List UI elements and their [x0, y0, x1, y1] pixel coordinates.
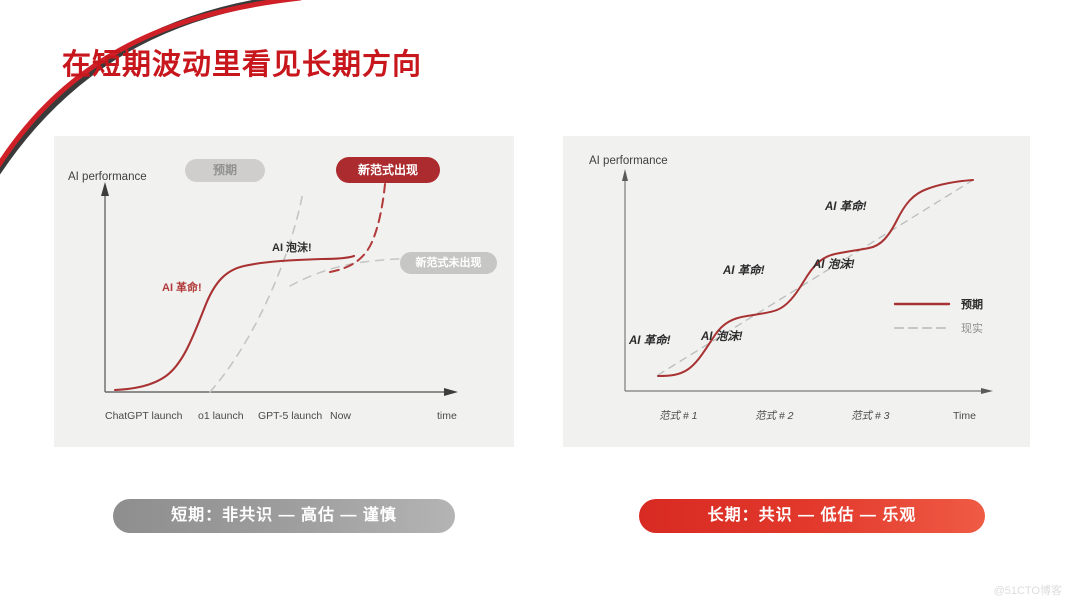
right-annotation-3: AI 泡沫! [812, 258, 855, 271]
right-chart-svg: AI performance Time 范式 # 1 范式 # 2 范式 # 3… [563, 136, 1030, 447]
right-annotation-1: AI 泡沫! [700, 330, 743, 343]
right-annotation-2: AI 革命! [722, 263, 765, 277]
right-y-axis-title: AI performance [589, 155, 668, 167]
left-y-axis-arrowhead [101, 182, 109, 196]
slide-root: 在短期波动里看见长期方向 AI performance time ChatGPT… [0, 0, 1080, 608]
right-chart-panel: AI performance Time 范式 # 1 范式 # 2 范式 # 3… [563, 136, 1030, 447]
left-x-axis-title: time [437, 410, 457, 422]
right-reality-trend-line [658, 180, 973, 375]
left-x-tick-2: GPT-5 launch [258, 410, 322, 422]
right-x-axis-title: Time [953, 410, 976, 422]
badge-expectation[interactable]: 预期 [185, 159, 265, 182]
right-chart-legend: 预期 现实 [895, 297, 983, 335]
left-annotation-bubble: AI 泡沫! [272, 240, 312, 254]
right-x-tick-2: 范式 # 3 [851, 410, 890, 422]
left-chart-svg: AI performance time ChatGPT launch o1 la… [54, 136, 514, 447]
left-y-axis-title: AI performance [68, 171, 147, 183]
left-x-tick-3: Now [330, 410, 351, 422]
right-annotation-0: AI 革命! [628, 333, 671, 347]
badge-new-paradigm-appears[interactable]: 新范式出现 [336, 157, 440, 183]
left-expect-dashed-curve [210, 192, 303, 392]
right-x-tick-0: 范式 # 1 [659, 410, 698, 422]
badge-no-new-paradigm[interactable]: 新范式未出现 [400, 252, 497, 274]
short-term-summary-pill[interactable]: 短期：非共识 — 高估 — 谨慎 [113, 499, 455, 533]
right-annotation-4: AI 革命! [824, 199, 867, 213]
legend-label-reality: 现实 [961, 321, 983, 335]
left-chart-panel: AI performance time ChatGPT launch o1 la… [54, 136, 514, 447]
left-annotation-revolution: AI 革命! [162, 280, 202, 294]
right-y-axis-arrowhead [622, 169, 628, 181]
left-x-tick-1: o1 launch [198, 410, 244, 422]
right-x-tick-1: 范式 # 2 [755, 410, 794, 422]
legend-label-expectation: 预期 [961, 297, 983, 311]
long-term-summary-pill[interactable]: 长期：共识 — 低估 — 乐观 [639, 499, 985, 533]
left-x-axis-arrowhead [444, 388, 458, 396]
page-title: 在短期波动里看见长期方向 [62, 41, 422, 83]
watermark: @51CTO博客 [994, 582, 1062, 598]
left-x-tick-0: ChatGPT launch [105, 410, 183, 422]
left-actual-red-curve [115, 256, 354, 390]
right-x-axis-arrowhead [981, 388, 993, 394]
